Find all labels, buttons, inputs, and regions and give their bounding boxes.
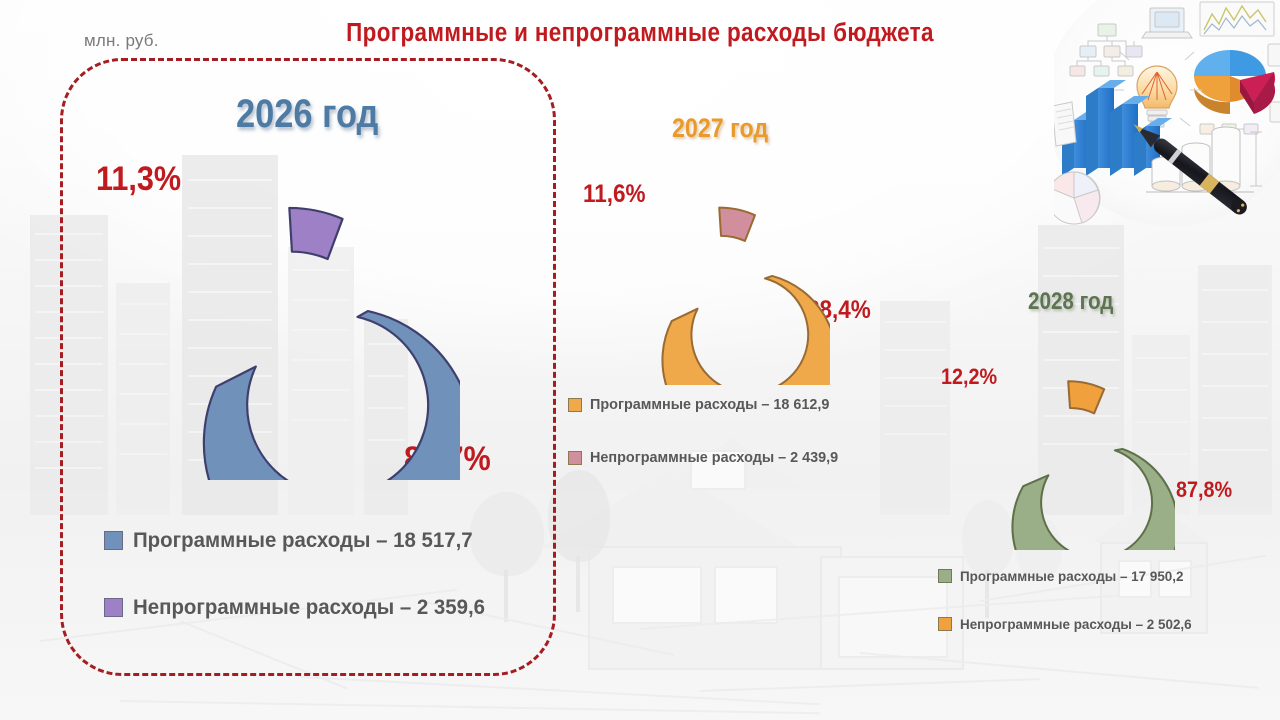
legend-swatch-nonprogram (104, 598, 123, 617)
legend-item: Программные расходы – 18 612,9 (568, 396, 849, 413)
legend-swatch-program (104, 531, 123, 550)
legend-label-program: Программные расходы – 17 950,2 (960, 568, 1183, 584)
legend-swatch-program (938, 569, 952, 583)
legend-label-nonprogram: Непрограммные расходы – 2 502,6 (960, 616, 1192, 632)
percent-label-2028-program: 87,8% (1176, 477, 1232, 503)
year-title-2027: 2027 год (672, 113, 768, 144)
slide-canvas: млн. руб. Программные и непрограммные ра… (0, 0, 1280, 720)
legend-item: Непрограммные расходы – 2 439,9 (568, 449, 849, 466)
legend-swatch-program (568, 398, 582, 412)
legend-swatch-nonprogram (568, 451, 582, 465)
page-title: Программные и непрограммные расходы бюдж… (77, 19, 1203, 48)
legend-item: Программные расходы – 17 950,2 (938, 568, 1201, 584)
business-infographic-illustration (1054, 0, 1280, 226)
year-title-2028: 2028 год (1028, 288, 1113, 316)
legend-label-nonprogram: Непрограммные расходы – 2 359,6 (133, 595, 485, 620)
donut-chart-2028 (985, 350, 1175, 555)
legend-item: Программные расходы – 18 517,7 (104, 528, 504, 553)
legend-2028: Программные расходы – 17 950,2 Непрограм… (938, 568, 1201, 664)
legend-2026: Программные расходы – 18 517,7 Непрограм… (104, 528, 504, 662)
donut-chart-2026 (150, 160, 460, 485)
legend-label-program: Программные расходы – 18 612,9 (590, 396, 829, 413)
donut-chart-2027 (630, 175, 830, 390)
legend-label-program: Программные расходы – 18 517,7 (133, 528, 473, 553)
legend-item: Непрограммные расходы – 2 359,6 (104, 595, 504, 620)
year-title-2026: 2026 год (236, 92, 378, 137)
legend-2027: Программные расходы – 18 612,9 Непрограм… (568, 396, 849, 502)
legend-item: Непрограммные расходы – 2 502,6 (938, 616, 1201, 632)
legend-label-nonprogram: Непрограммные расходы – 2 439,9 (590, 449, 838, 466)
legend-swatch-nonprogram (938, 617, 952, 631)
